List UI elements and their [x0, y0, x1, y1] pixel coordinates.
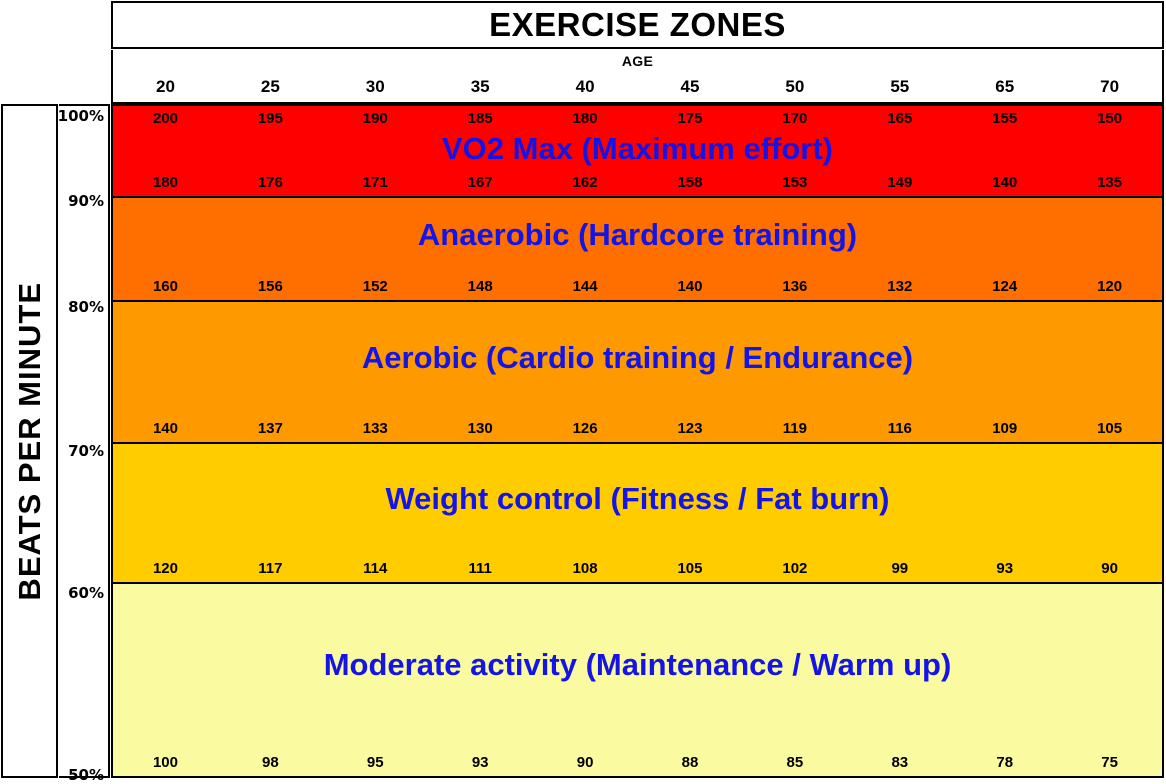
chart-title-box: EXERCISE ZONES [111, 1, 1164, 49]
zone-band-3: Aerobic (Cardio training / Endurance)140… [113, 302, 1162, 444]
bpm-value: 149 [847, 172, 952, 194]
bpm-value: 108 [533, 558, 638, 580]
bpm-value: 93 [428, 752, 533, 774]
bpm-value: 105 [638, 558, 743, 580]
bpm-value: 90 [533, 752, 638, 774]
bpm-value: 117 [218, 558, 323, 580]
zone-lower-values: 180176171167162158153149140135 [113, 172, 1162, 194]
percent-tick-60: 60% [68, 584, 104, 602]
zone-lower-values: 140137133130126123119116109105 [113, 418, 1162, 440]
exercise-zones-chart: EXERCISE ZONES AGE 20253035404550556570 … [0, 0, 1166, 779]
age-tick-20: 20 [113, 75, 218, 99]
bpm-value: 93 [952, 558, 1057, 580]
age-tick-50: 50 [742, 75, 847, 99]
bpm-value: 120 [1057, 276, 1162, 298]
zone-label: VO2 Max (Maximum effort) [113, 131, 1162, 167]
bpm-value: 98 [218, 752, 323, 774]
age-axis-label: AGE [113, 53, 1162, 69]
age-tick-45: 45 [638, 75, 743, 99]
header-corner-spacer [0, 0, 110, 104]
zone-upper-values: 200195190185180175170165155150 [113, 108, 1162, 130]
bpm-value: 153 [742, 172, 847, 194]
bpm-value: 124 [952, 276, 1057, 298]
age-tick-30: 30 [323, 75, 428, 99]
bpm-value: 140 [113, 418, 218, 440]
zone-label: Weight control (Fitness / Fat burn) [113, 481, 1162, 517]
bpm-value: 176 [218, 172, 323, 194]
bpm-value: 95 [323, 752, 428, 774]
bpm-value: 150 [1057, 108, 1162, 130]
bpm-value: 130 [428, 418, 533, 440]
zone-band-2: Anaerobic (Hardcore training)16015615214… [113, 198, 1162, 302]
bpm-value: 160 [113, 276, 218, 298]
bpm-value: 156 [218, 276, 323, 298]
zone-label: Aerobic (Cardio training / Endurance) [113, 340, 1162, 376]
age-tick-35: 35 [428, 75, 533, 99]
bpm-value: 144 [533, 276, 638, 298]
zone-lower-values: 160156152148144140136132124120 [113, 276, 1162, 298]
bpm-value: 140 [638, 276, 743, 298]
bpm-value: 167 [428, 172, 533, 194]
bpm-value: 132 [847, 276, 952, 298]
bpm-value: 180 [533, 108, 638, 130]
page-title: EXERCISE ZONES [489, 6, 786, 44]
bpm-value: 114 [323, 558, 428, 580]
bpm-value: 111 [428, 558, 533, 580]
age-tick-65: 65 [952, 75, 1057, 99]
bpm-value: 140 [952, 172, 1057, 194]
bpm-value: 99 [847, 558, 952, 580]
bpm-value: 119 [742, 418, 847, 440]
bpm-value: 78 [952, 752, 1057, 774]
zone-label: Moderate activity (Maintenance / Warm up… [113, 647, 1162, 683]
bpm-value: 120 [113, 558, 218, 580]
bpm-value: 83 [847, 752, 952, 774]
bpm-value: 88 [638, 752, 743, 774]
zone-band-4: Weight control (Fitness / Fat burn)12011… [113, 444, 1162, 584]
zone-band-1: 200195190185180175170165155150VO2 Max (M… [113, 106, 1162, 198]
bpm-value: 123 [638, 418, 743, 440]
bpm-value: 200 [113, 108, 218, 130]
age-tick-40: 40 [533, 75, 638, 99]
bpm-value: 133 [323, 418, 428, 440]
bpm-value: 170 [742, 108, 847, 130]
bpm-value: 162 [533, 172, 638, 194]
bpm-value: 175 [638, 108, 743, 130]
bpm-value: 152 [323, 276, 428, 298]
percent-tick-50: 50% [68, 766, 104, 784]
percent-tick-100: 100% [58, 107, 104, 125]
bpm-value: 171 [323, 172, 428, 194]
bpm-value: 136 [742, 276, 847, 298]
bpm-value: 158 [638, 172, 743, 194]
bpm-value: 105 [1057, 418, 1162, 440]
bpm-value: 100 [113, 752, 218, 774]
bpm-value: 116 [847, 418, 952, 440]
bpm-value: 195 [218, 108, 323, 130]
bpm-value: 75 [1057, 752, 1162, 774]
age-tick-25: 25 [218, 75, 323, 99]
bpm-value: 190 [323, 108, 428, 130]
percent-tick-90: 90% [68, 192, 104, 210]
zone-band-5: Moderate activity (Maintenance / Warm up… [113, 584, 1162, 776]
bpm-value: 148 [428, 276, 533, 298]
bpm-value: 90 [1057, 558, 1162, 580]
bpm-value: 85 [742, 752, 847, 774]
percent-tick-70: 70% [68, 442, 104, 460]
percent-tick-80: 80% [68, 298, 104, 316]
zone-label: Anaerobic (Hardcore training) [113, 217, 1162, 253]
bpm-axis-box: BEATS PER MINUTE [1, 104, 58, 778]
bpm-value: 165 [847, 108, 952, 130]
bpm-value: 155 [952, 108, 1057, 130]
bpm-axis-label: BEATS PER MINUTE [12, 282, 48, 601]
bpm-value: 180 [113, 172, 218, 194]
bpm-value: 126 [533, 418, 638, 440]
zone-band-stack: 200195190185180175170165155150VO2 Max (M… [111, 104, 1164, 778]
bpm-value: 102 [742, 558, 847, 580]
bpm-value: 135 [1057, 172, 1162, 194]
age-header-box: AGE 20253035404550556570 [111, 50, 1164, 104]
age-tick-70: 70 [1057, 75, 1162, 99]
zone-lower-values: 100989593908885837875 [113, 752, 1162, 774]
age-tick-row: 20253035404550556570 [113, 75, 1162, 99]
age-tick-55: 55 [847, 75, 952, 99]
bpm-value: 185 [428, 108, 533, 130]
percent-scale-column: 100%90%80%70%60%50% [59, 104, 110, 778]
bpm-value: 137 [218, 418, 323, 440]
zone-lower-values: 120117114111108105102999390 [113, 558, 1162, 580]
bpm-value: 109 [952, 418, 1057, 440]
